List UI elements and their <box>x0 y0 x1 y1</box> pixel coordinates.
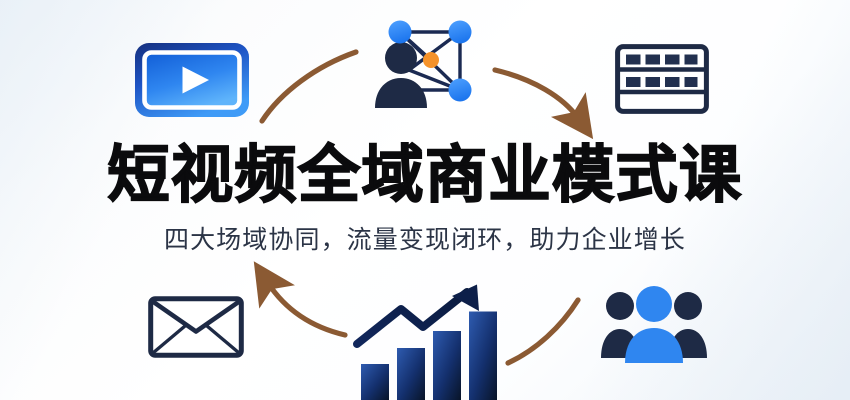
curved-arrow-bottom-left <box>268 283 345 335</box>
building-icon <box>615 44 709 114</box>
network-node-top-left <box>389 21 412 44</box>
network-person-icon <box>367 8 483 112</box>
banner-text: 短视频全域商业模式课 四大场域协同，流量变现闭环，助力企业增长 <box>0 139 850 257</box>
network-node-center <box>423 52 439 68</box>
chart-bar-4 <box>469 312 497 400</box>
curved-arrow-bottom-right <box>508 300 578 363</box>
chart-bar-2 <box>397 348 425 400</box>
page-subtitle: 四大场域协同，流量变现闭环，助力企业增长 <box>0 223 850 257</box>
growth-chart-icon <box>355 284 501 400</box>
network-node-bottom-right <box>449 79 472 102</box>
curved-arrow-top-right <box>495 70 578 118</box>
chart-bar-1 <box>361 364 389 400</box>
network-node-top-right <box>449 21 472 44</box>
course-banner: 短视频全域商业模式课 四大场域协同，流量变现闭环，助力企业增长 <box>0 0 850 400</box>
video-player-icon <box>134 42 250 118</box>
chart-bar-3 <box>433 331 461 400</box>
page-title: 短视频全域商业模式课 <box>0 139 850 213</box>
email-envelope-icon <box>148 296 244 358</box>
curved-arrow-top-left <box>262 52 356 121</box>
users-group-icon <box>600 284 708 364</box>
user-center <box>625 286 683 363</box>
